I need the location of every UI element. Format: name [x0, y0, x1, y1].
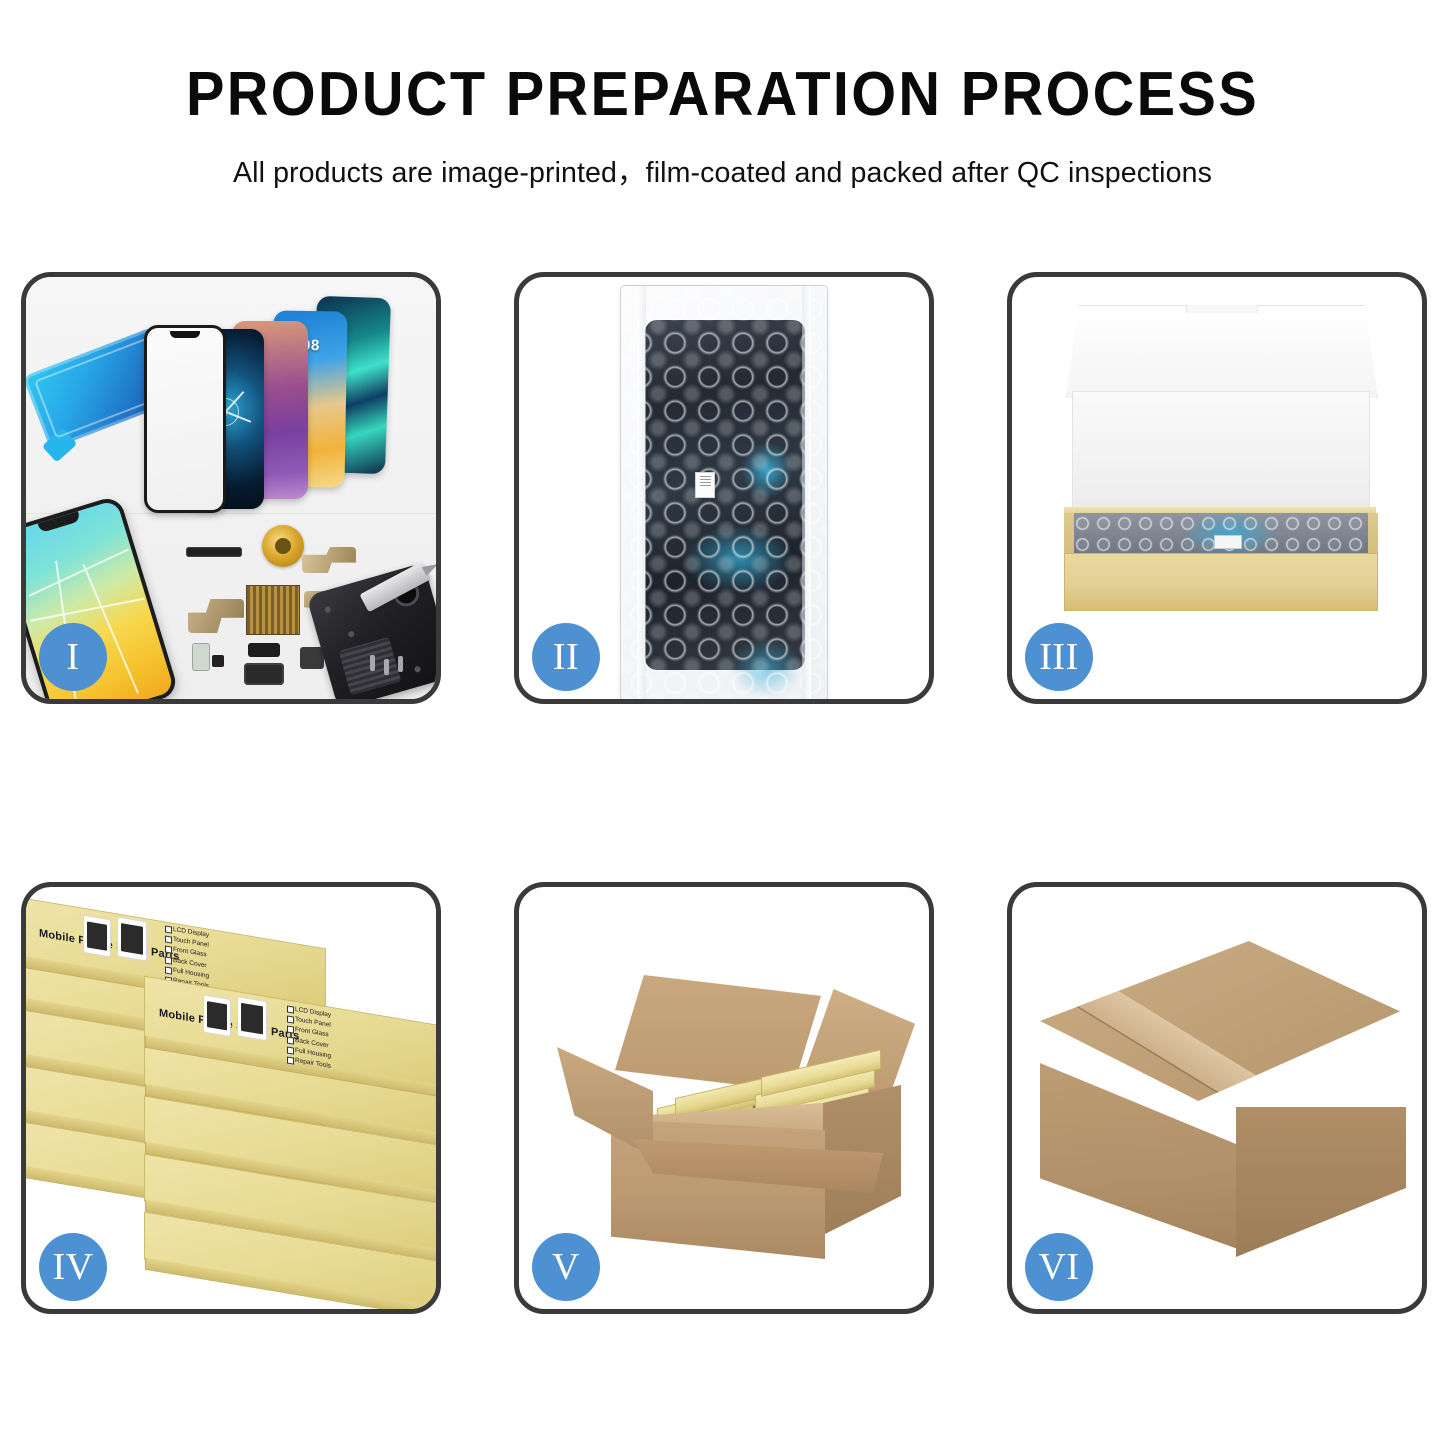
product-photo	[83, 915, 111, 958]
open-mailer-box	[1058, 305, 1384, 639]
process-step-grid: 08:08 Thu 12	[0, 272, 1445, 1314]
screws-group	[370, 655, 416, 675]
tape-tab	[1126, 1215, 1160, 1255]
phone-fan-group: 08:08 Thu 12	[146, 295, 436, 515]
camera-module-part	[244, 663, 284, 685]
step-badge-3: III	[1025, 623, 1093, 691]
page-header: PRODUCT PREPARATION PROCESS All products…	[0, 0, 1445, 191]
product-label-sticker	[695, 472, 715, 498]
vibration-motor-part	[262, 525, 304, 567]
ic-chip-part	[246, 585, 300, 635]
process-step-panel-1[interactable]: 08:08 Thu 12	[21, 272, 441, 704]
step-badge-6: VI	[1025, 1233, 1093, 1301]
sim-tray-part	[192, 643, 210, 671]
bubble-texture-secondary	[621, 286, 827, 699]
box-lid-tab	[1186, 298, 1258, 313]
notch-cutout	[170, 331, 200, 338]
earpiece-speaker-part	[186, 547, 242, 557]
process-step-panel-3[interactable]: III	[1007, 272, 1427, 704]
page-title: PRODUCT PREPARATION PROCESS	[51, 62, 1395, 127]
process-step-panel-2[interactable]: II	[514, 272, 934, 704]
open-carton	[553, 953, 905, 1273]
product-photo	[203, 994, 231, 1037]
product-photo	[237, 996, 267, 1041]
pouch-seam-right	[802, 286, 811, 699]
flex-cable-part	[188, 599, 244, 633]
step-badge-1: I	[39, 623, 107, 691]
carton-top-panel	[1040, 941, 1400, 1101]
feature-checklist: LCD Display Touch Panel Front Glass Back…	[287, 1004, 331, 1073]
box-lid-inner-face	[1072, 391, 1370, 523]
step-badge-4: IV	[39, 1233, 107, 1301]
bubble-wrap-pouch	[620, 285, 828, 699]
front-glass-panel	[144, 325, 226, 513]
connector-part	[300, 647, 324, 669]
step-badge-2: II	[532, 623, 600, 691]
product-label-sticker	[1214, 535, 1242, 549]
step-badge-5: V	[532, 1233, 600, 1301]
flex-cable-part	[302, 547, 356, 573]
process-step-panel-4[interactable]: Mobile Phone Spare Parts LCD Display Tou…	[21, 882, 441, 1314]
pouch-seam-left	[637, 286, 646, 699]
page-subtitle: All products are image-printed，film-coat…	[11, 149, 1434, 191]
box-tray-front	[1064, 553, 1378, 611]
carton-side-panel	[1236, 1107, 1406, 1257]
wrapped-screen-in-tray	[1072, 513, 1368, 555]
product-photo	[117, 916, 147, 961]
connector-part	[248, 643, 280, 657]
box-lid-back	[1066, 305, 1378, 398]
small-component-part	[212, 655, 224, 667]
process-step-panel-5[interactable]: V	[514, 882, 934, 1314]
sealed-carton	[1034, 935, 1412, 1265]
process-step-panel-6[interactable]: VI	[1007, 882, 1427, 1314]
